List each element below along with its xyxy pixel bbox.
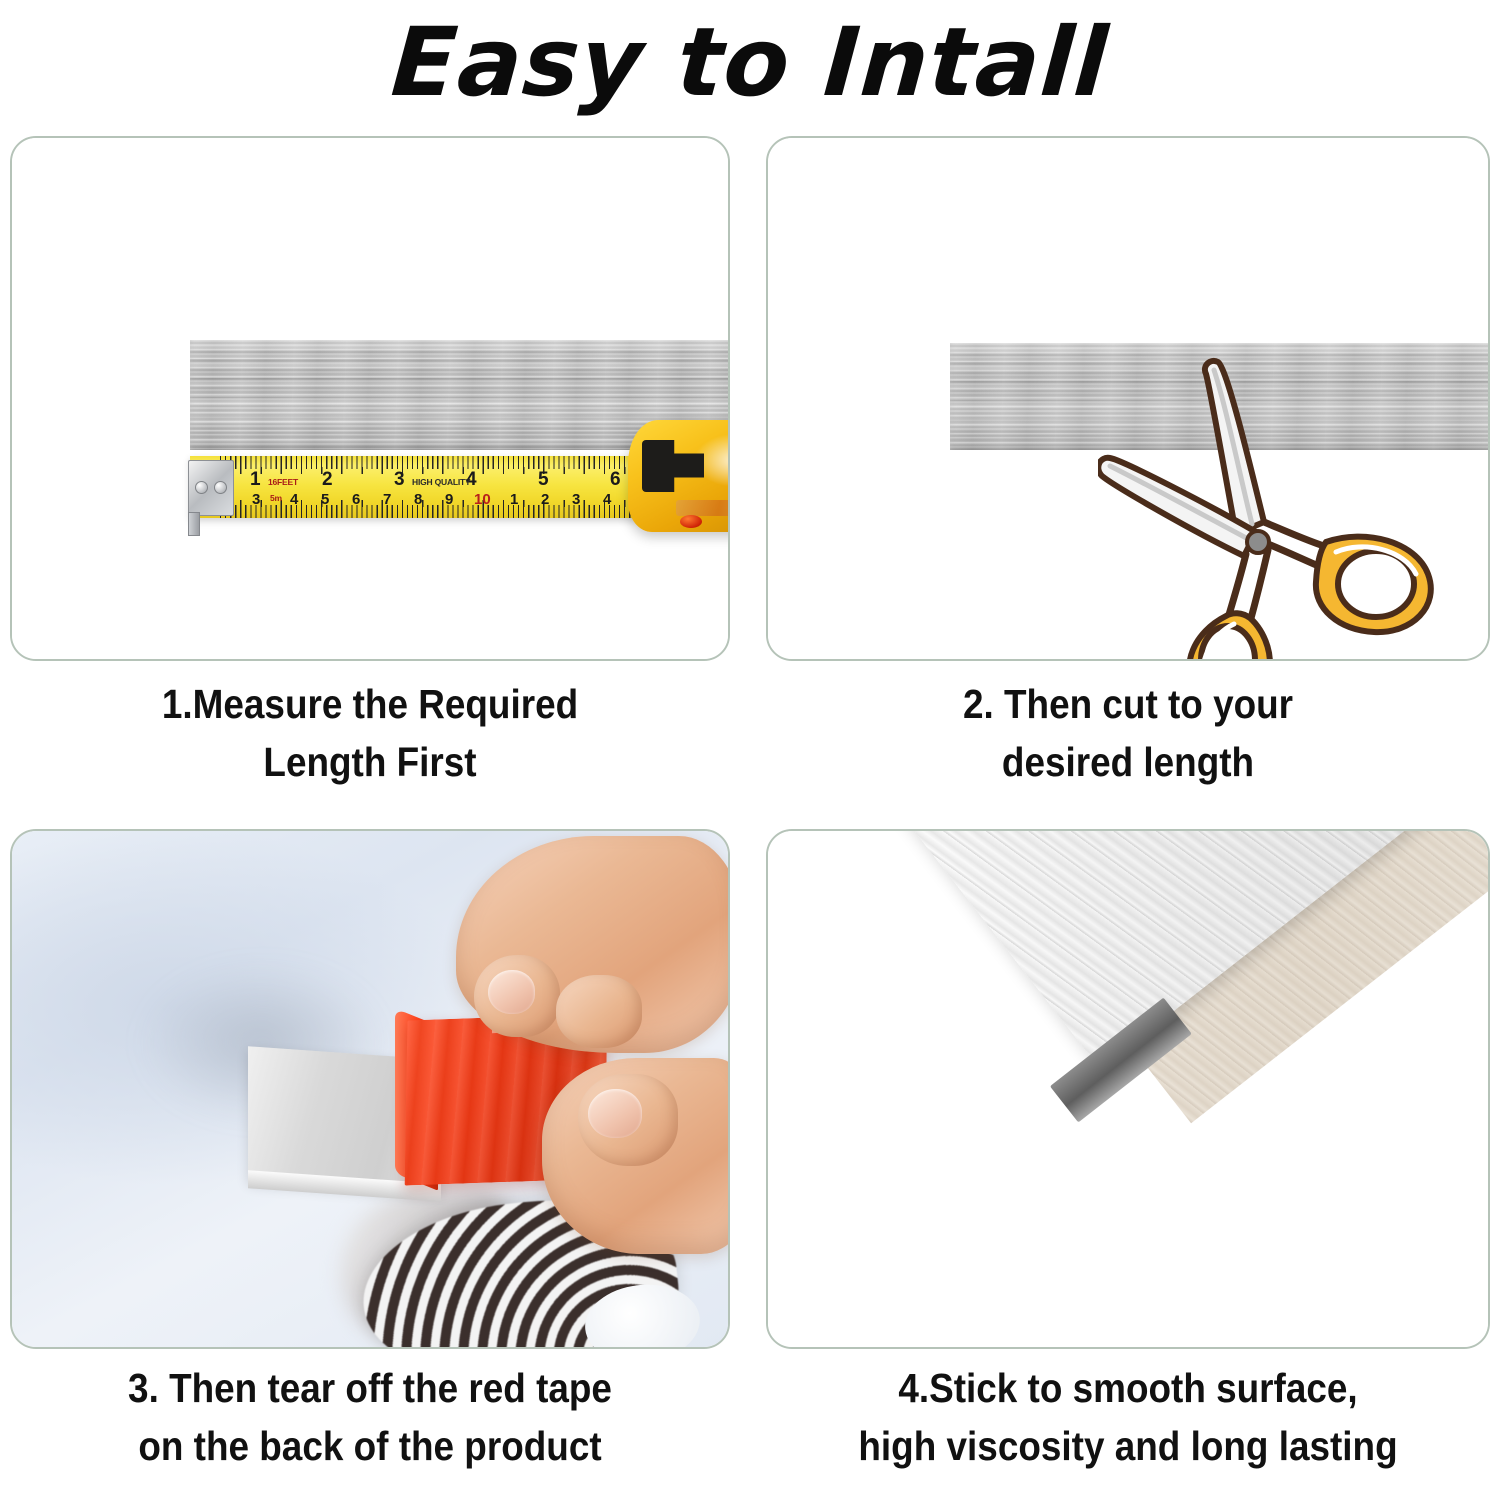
tape-metric-mark: 4 <box>603 492 611 507</box>
tape-inch-mark: 5 <box>538 470 549 489</box>
tape-metric-mark: 10 <box>474 492 491 507</box>
peel-tape-photo <box>12 831 728 1347</box>
tape-metric-mark: 3 <box>252 492 260 507</box>
tape-hook-rivet <box>195 481 208 494</box>
step-card-3: 3. Then tear off the red tape on the bac… <box>0 816 750 1486</box>
step-card-2: 2. Then cut to your desired length <box>750 126 1500 816</box>
tape-inch-mark: 1 <box>250 470 261 489</box>
tape-metric-mark: 2 <box>541 492 549 507</box>
tape-ticks-top <box>220 456 662 469</box>
step-2-image-panel <box>766 136 1490 661</box>
fingernail <box>488 970 535 1014</box>
tape-metric-mark: 3 <box>572 492 580 507</box>
tape-case-label <box>676 500 730 516</box>
tape-metric-length-text: 5m <box>270 494 282 503</box>
step-3-image-panel <box>10 829 730 1349</box>
tape-metric-mark: 4 <box>290 492 298 507</box>
tape-hook-lip <box>188 512 200 536</box>
scissors-icon <box>1098 336 1458 661</box>
tape-quality-text: HIGH QUALITY <box>412 478 471 487</box>
tape-inch-mark: 2 <box>322 470 333 489</box>
caption-line: 1.Measure the Required <box>46 675 694 733</box>
tape-metric-mark: 7 <box>383 492 391 507</box>
step-1-image-panel: 1 2 3 4 5 6 16FEET HIGH QUALITY 2 3 5m 4… <box>10 136 730 661</box>
step-2-caption: 2. Then cut to your desired length <box>802 675 1454 791</box>
fingernail <box>588 1089 642 1138</box>
tape-metric-mark: 1 <box>510 492 518 507</box>
tape-hook-rivet <box>214 481 227 494</box>
tape-metric-mark: 6 <box>352 492 360 507</box>
tape-brand-text: 16FEET <box>268 478 298 487</box>
tape-release-button <box>680 515 702 528</box>
scissors-pivot <box>1247 531 1269 553</box>
step-4-caption: 4.Stick to smooth surface, high viscosit… <box>802 1359 1454 1475</box>
caption-line: 2. Then cut to your <box>802 675 1454 733</box>
installed-strip-photo <box>768 831 1488 1347</box>
caption-line: Length First <box>46 733 694 791</box>
step-3-caption: 3. Then tear off the red tape on the bac… <box>46 1359 694 1475</box>
caption-line: 3. Then tear off the red tape <box>46 1359 694 1417</box>
finger <box>556 975 642 1047</box>
tape-blade: 1 2 3 4 5 6 16FEET HIGH QUALITY 2 3 5m 4… <box>190 456 662 518</box>
step-card-4: 4.Stick to smooth surface, high viscosit… <box>750 816 1500 1486</box>
tape-measure-case <box>628 420 730 532</box>
tape-metric-mark: 9 <box>445 492 453 507</box>
tape-metric-mark: 8 <box>414 492 422 507</box>
step-1-caption: 1.Measure the Required Length First <box>46 675 694 791</box>
tape-lock-button <box>642 440 704 492</box>
scissors-illustration <box>768 138 1488 659</box>
tape-measure-illustration: 1 2 3 4 5 6 16FEET HIGH QUALITY 2 3 5m 4… <box>12 138 728 659</box>
steps-grid: 1 2 3 4 5 6 16FEET HIGH QUALITY 2 3 5m 4… <box>0 126 1500 1486</box>
caption-line: on the back of the product <box>46 1417 694 1475</box>
caption-line: desired length <box>802 733 1454 791</box>
caption-line: 4.Stick to smooth surface, <box>802 1359 1454 1417</box>
page-title: Easy to Intall <box>0 0 1500 126</box>
tape-ticks-bottom <box>220 505 662 518</box>
tape-inch-mark: 6 <box>610 470 621 489</box>
step-card-1: 1 2 3 4 5 6 16FEET HIGH QUALITY 2 3 5m 4… <box>0 126 750 816</box>
tape-metric-mark: 5 <box>321 492 329 507</box>
tape-hook <box>188 460 234 516</box>
tape-inch-mark: 3 <box>394 470 405 489</box>
step-4-image-panel <box>766 829 1490 1349</box>
caption-line: high viscosity and long lasting <box>802 1417 1454 1475</box>
